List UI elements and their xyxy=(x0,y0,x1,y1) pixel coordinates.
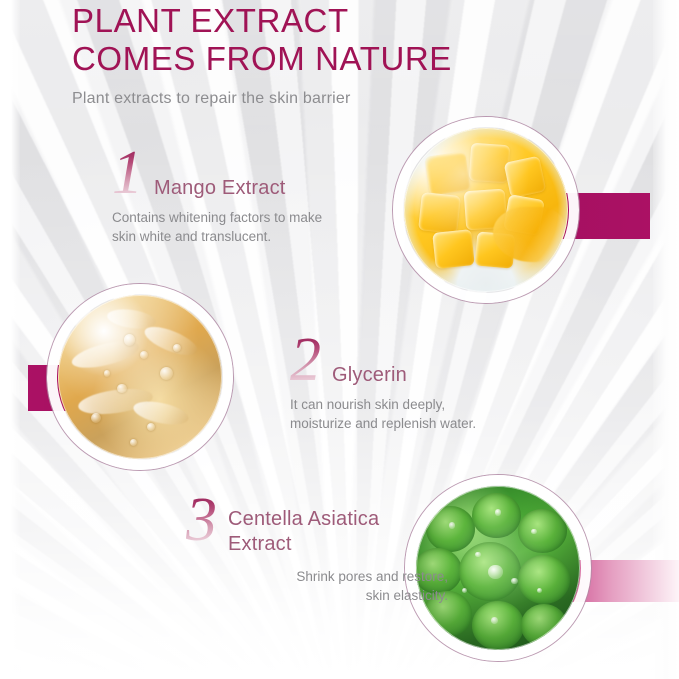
page-subtitle: Plant extracts to repair the skin barrie… xyxy=(72,90,632,108)
item-block-centella: 3 Centella Asiatica Extract Shrink pores… xyxy=(186,495,506,625)
item-numeral-1: 1 xyxy=(112,142,143,204)
mango-photo-rim xyxy=(404,128,568,292)
item-block-mango: 1 Mango Extract Contains whitening facto… xyxy=(112,148,412,258)
item-title-centella: Centella Asiatica Extract xyxy=(228,507,458,557)
header: PLANT EXTRACT COMES FROM NATURE Plant ex… xyxy=(72,2,632,108)
item-title-glycerin: Glycerin xyxy=(332,363,582,388)
infographic-poster: PLANT EXTRACT COMES FROM NATURE Plant ex… xyxy=(0,0,679,679)
item-block-glycerin: 2 Glycerin It can nourish skin deeply, m… xyxy=(290,335,610,445)
item-title-mango: Mango Extract xyxy=(154,176,404,201)
item-description-glycerin: It can nourish skin deeply, moisturize a… xyxy=(290,395,570,433)
mango-cubes-photo xyxy=(404,128,568,292)
item-description-mango: Contains whitening factors to make skin … xyxy=(112,208,382,246)
glycerin-circle xyxy=(58,295,222,459)
item-numeral-2: 2 xyxy=(290,329,321,391)
mango-circle xyxy=(404,128,568,292)
item-description-centella: Shrink pores and restore, skin elasticit… xyxy=(186,567,448,605)
glycerin-gel-photo xyxy=(58,295,222,459)
page-title: PLANT EXTRACT COMES FROM NATURE xyxy=(72,2,632,78)
glycerin-photo-rim xyxy=(58,295,222,459)
item-numeral-3: 3 xyxy=(186,489,217,551)
left-edge-highlight xyxy=(0,0,20,679)
